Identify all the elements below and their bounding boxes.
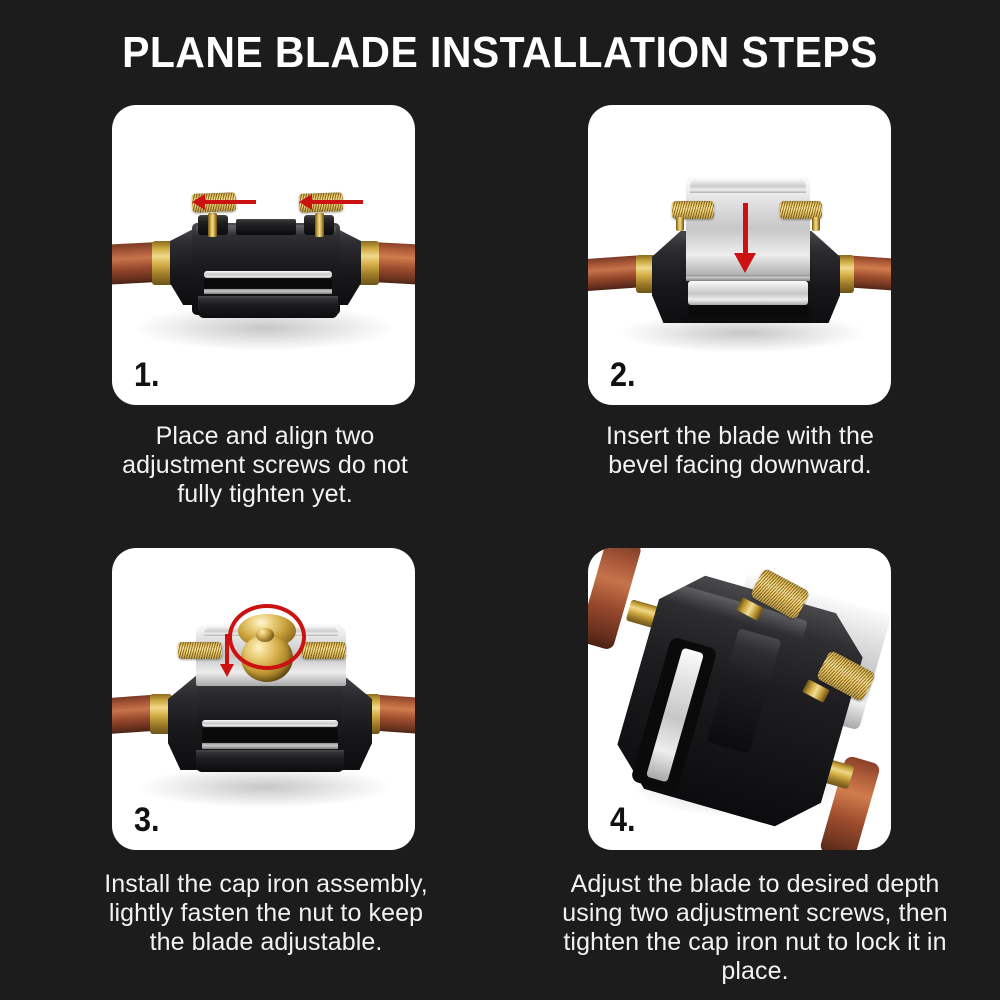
step-4-number: 4. [610, 801, 636, 840]
arrow-shaft-down [225, 634, 229, 666]
mouth-slot [204, 279, 332, 288]
screw-post-left [208, 213, 217, 237]
mouth-slot [688, 305, 808, 317]
red-highlight-circle [228, 604, 306, 670]
step-2-number: 2. [610, 356, 636, 395]
sole-plate [198, 296, 338, 318]
arrow-head-down [220, 664, 234, 677]
step-2-caption: Insert the blade with the bevel facing d… [575, 422, 905, 480]
step-3-number: 3. [134, 801, 160, 840]
step-1-image-panel: 1. [112, 105, 415, 405]
blade-lower-face [688, 281, 808, 305]
sole-steel-lower [202, 743, 338, 749]
step-1-caption: Place and align two adjustment screws do… [100, 422, 430, 509]
arrow-shaft-left-1 [204, 200, 256, 204]
step-4-image-panel: 4. [588, 548, 891, 850]
sole-plate [196, 750, 344, 772]
sole-steel-edge [202, 720, 338, 727]
step-2-image-panel: 2. [588, 105, 891, 405]
step-4-caption: Adjust the blade to desired depth using … [560, 870, 950, 986]
drop-shadow [136, 766, 394, 808]
arrow-head-down [734, 253, 756, 273]
arrow-shaft-left-2 [311, 200, 363, 204]
infographic-root: PLANE BLADE INSTALLATION STEPS [0, 0, 1000, 1000]
thumbscrew-left [178, 642, 222, 659]
screw-post-left [676, 217, 684, 231]
arrow-shaft-down [743, 203, 748, 255]
arrow-head-left-2 [299, 194, 312, 210]
step-3-caption: Install the cap iron assembly, lightly f… [96, 870, 436, 957]
mouth-slot [202, 728, 338, 742]
arrow-head-left-1 [192, 194, 205, 210]
blade-top-bevel [690, 179, 806, 193]
page-title: PLANE BLADE INSTALLATION STEPS [35, 28, 965, 78]
screw-post-right [812, 217, 820, 231]
bed-ledge [236, 219, 296, 235]
sole-steel-edge [204, 271, 332, 278]
thumbscrew-right [302, 642, 346, 659]
step-3-image-panel: 3. [112, 548, 415, 850]
step-1-number: 1. [134, 356, 160, 395]
screw-post-right [315, 213, 324, 237]
sole-steel-lower [204, 289, 332, 294]
